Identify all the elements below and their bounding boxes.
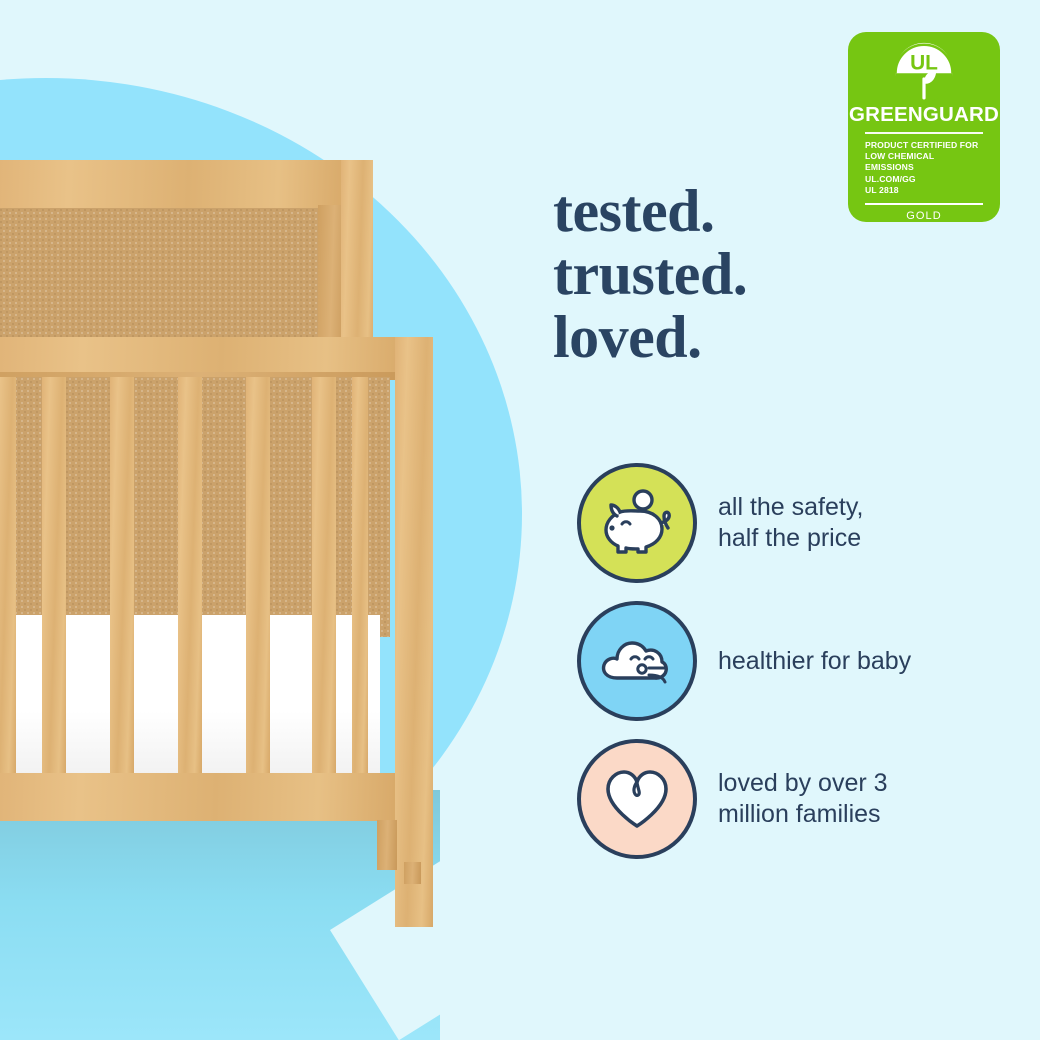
crib-slat: [178, 377, 202, 777]
crib-post-peg: [404, 862, 421, 884]
crib-front-post: [395, 337, 433, 927]
cloud-blowing-icon-circle: [577, 601, 697, 721]
crib-slat: [0, 377, 16, 777]
badge-cert-text: PRODUCT CERTIFIED FOR LOW CHEMICAL EMISS…: [865, 140, 983, 196]
crib-slat: [42, 377, 66, 777]
feature-label: all the safety, half the price: [718, 492, 863, 554]
crib-slat: [246, 377, 270, 777]
cloud-blowing-icon: [597, 628, 677, 694]
badge-cert-line: UL 2818: [865, 185, 983, 196]
crib-slat: [352, 377, 368, 777]
badge-cert-line: LOW CHEMICAL EMISSIONS: [865, 151, 983, 173]
badge-cert-line: PRODUCT CERTIFIED FOR: [865, 140, 983, 151]
piggy-bank-icon-circle: [577, 463, 697, 583]
crib-headboard-top-rail: [0, 160, 350, 208]
feature-label: loved by over 3 million families: [718, 768, 888, 830]
heart-icon-circle: [577, 739, 697, 859]
badge-name: GREENGUARD: [849, 105, 999, 126]
greenguard-certification-badge: UL GREENGUARD PRODUCT CERTIFIED FOR LOW …: [848, 32, 1000, 222]
heart-icon: [600, 764, 674, 834]
crib-front-bottom-rail: [0, 773, 400, 821]
ul-logo-icon: UL: [892, 41, 956, 102]
crib-product-photo: [0, 0, 460, 1040]
crib-slat: [110, 377, 134, 777]
badge-divider: [865, 132, 983, 134]
crib-post-joint: [377, 820, 397, 870]
feature-item-healthier: healthier for baby: [577, 601, 911, 721]
badge-gold-divider: [865, 203, 983, 205]
feature-list: all the safety, half the price healthier…: [577, 463, 911, 877]
badge-cert-line: UL.COM/GG: [865, 174, 983, 185]
marketing-graphic: tested. trusted. loved. UL GREENGUARD PR…: [0, 0, 1040, 1040]
feature-item-loved: loved by over 3 million families: [577, 739, 911, 859]
headline-line-3: loved.: [553, 306, 953, 369]
crib-front-top-rail: [0, 337, 410, 377]
feature-item-safety-price: all the safety, half the price: [577, 463, 911, 583]
badge-level: GOLD: [906, 210, 942, 222]
headline-line-2: trusted.: [553, 243, 953, 306]
crib-slat: [312, 377, 336, 777]
piggy-bank-icon: [598, 487, 676, 559]
feature-label: healthier for baby: [718, 646, 911, 677]
